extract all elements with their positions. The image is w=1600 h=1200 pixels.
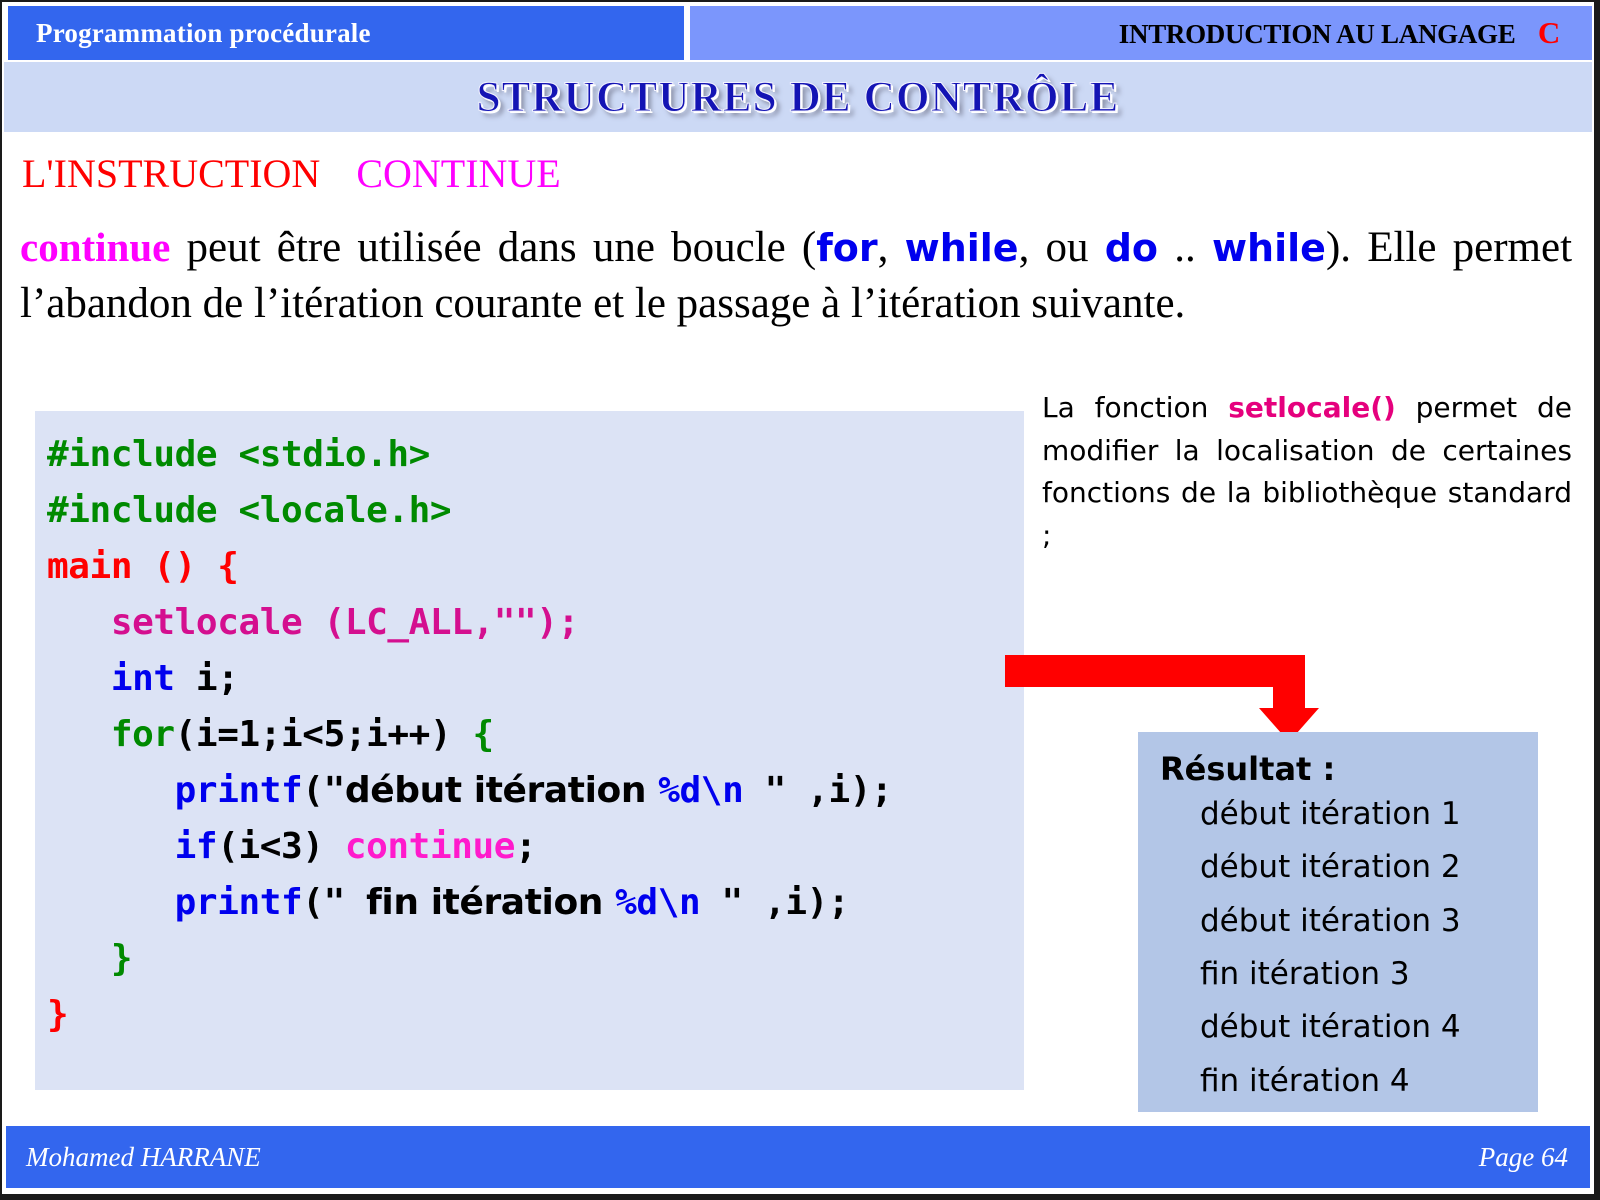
arrow-vertical-segment: [1273, 655, 1305, 714]
code-token: fin itération: [366, 882, 615, 923]
page-title: STRUCTURES DE CONTRÔLE: [477, 73, 1120, 122]
footer-bar: Mohamed HARRANE Page 64: [6, 1126, 1590, 1188]
code-token: main () {: [47, 546, 238, 587]
code-token: (": [302, 770, 345, 811]
code-line: }: [47, 987, 1024, 1043]
result-line: fin itération 3: [1200, 948, 1538, 1001]
section-heading-part1: L'INSTRUCTION: [22, 151, 320, 196]
code-line: #include <locale.h>: [47, 483, 1024, 539]
code-token: setlocale (LC_ALL,"");: [47, 602, 579, 643]
footer-page-number: Page 64: [1479, 1142, 1590, 1173]
paragraph-text-2: ,: [878, 224, 905, 271]
result-line: fin itération 4: [1200, 1055, 1538, 1108]
result-output-lines: début itération 1début itération 2début …: [1138, 788, 1538, 1108]
code-line: for(i=1;i<5;i++) {: [47, 707, 1024, 763]
header-right-accent-c: C: [1538, 15, 1576, 50]
code-token: }: [47, 938, 132, 979]
code-token: (i<3): [217, 826, 345, 867]
section-heading: L'INSTRUCTIONCONTINUE: [22, 150, 561, 197]
keyword-for: for: [816, 226, 877, 270]
code-line: #include <stdio.h>: [47, 427, 1024, 483]
code-listing: #include <stdio.h>#include <locale.h>mai…: [35, 411, 1024, 1043]
result-title: Résultat :: [1138, 750, 1538, 788]
code-token: if: [47, 826, 217, 867]
code-token: " ,i);: [700, 882, 849, 923]
intro-paragraph: continue peut être utilisée dans une bou…: [20, 220, 1572, 332]
header-right-label: INTRODUCTION AU LANGAGE C: [1119, 15, 1592, 51]
paragraph-text-3: , ou: [1019, 224, 1105, 271]
code-line: int i;: [47, 651, 1024, 707]
code-token: {: [473, 714, 494, 755]
code-line: setlocale (LC_ALL,"");: [47, 595, 1024, 651]
code-line: }: [47, 931, 1024, 987]
code-line: printf("début itération %d\n " ,i);: [47, 763, 1024, 819]
keyword-while-2: while: [1212, 226, 1326, 270]
arrow-horizontal-segment: [1005, 655, 1305, 687]
keyword-while-1: while: [905, 226, 1019, 270]
header-left-banner: Programmation procédurale: [8, 6, 684, 60]
side-note: La fonction setlocale() permet de modifi…: [1042, 387, 1572, 557]
result-box: Résultat : début itération 1début itérat…: [1138, 732, 1538, 1112]
code-token: printf: [47, 770, 302, 811]
header-right-banner: INTRODUCTION AU LANGAGE C: [690, 6, 1592, 60]
code-line: main () {: [47, 539, 1024, 595]
slide-canvas: Programmation procédurale INTRODUCTION A…: [0, 0, 1600, 1200]
code-token: for: [47, 714, 175, 755]
footer-author: Mohamed HARRANE: [6, 1142, 261, 1173]
note-text-1: La fonction: [1042, 391, 1228, 424]
keyword-continue: continue: [20, 224, 170, 270]
result-line: début itération 1: [1200, 788, 1538, 841]
note-function-name: setlocale(): [1228, 391, 1396, 424]
code-token: ;: [515, 826, 536, 867]
result-line: début itération 3: [1200, 895, 1538, 948]
code-token: }: [47, 994, 68, 1035]
code-token: (i=1;i<5;i++): [175, 714, 473, 755]
code-token: #include <stdio.h>: [47, 434, 430, 475]
result-line: début itération 2: [1200, 841, 1538, 894]
code-token: #include <locale.h>: [47, 490, 451, 531]
code-line: if(i<3) continue;: [47, 819, 1024, 875]
code-token: %d\n: [615, 882, 700, 923]
code-token: (": [302, 882, 366, 923]
code-line: printf(" fin itération %d\n " ,i);: [47, 875, 1024, 931]
code-token: début itération: [345, 770, 658, 811]
code-token: %d\n: [658, 770, 743, 811]
code-token: i;: [175, 658, 239, 699]
paragraph-text-1: peut être utilisée dans une boucle (: [170, 224, 816, 271]
code-token: int: [47, 658, 175, 699]
header-right-text: INTRODUCTION AU LANGAGE: [1119, 19, 1532, 49]
code-block: #include <stdio.h>#include <locale.h>mai…: [35, 411, 1024, 1090]
code-token: printf: [47, 882, 302, 923]
title-band: STRUCTURES DE CONTRÔLE: [4, 62, 1592, 132]
keyword-do: do: [1105, 226, 1158, 270]
header-left-label: Programmation procédurale: [8, 18, 371, 49]
paragraph-text-4: ..: [1158, 224, 1212, 271]
code-token: " ,i);: [743, 770, 892, 811]
code-token: continue: [345, 826, 515, 867]
result-line: début itération 4: [1200, 1001, 1538, 1054]
section-heading-part2: CONTINUE: [320, 151, 560, 196]
